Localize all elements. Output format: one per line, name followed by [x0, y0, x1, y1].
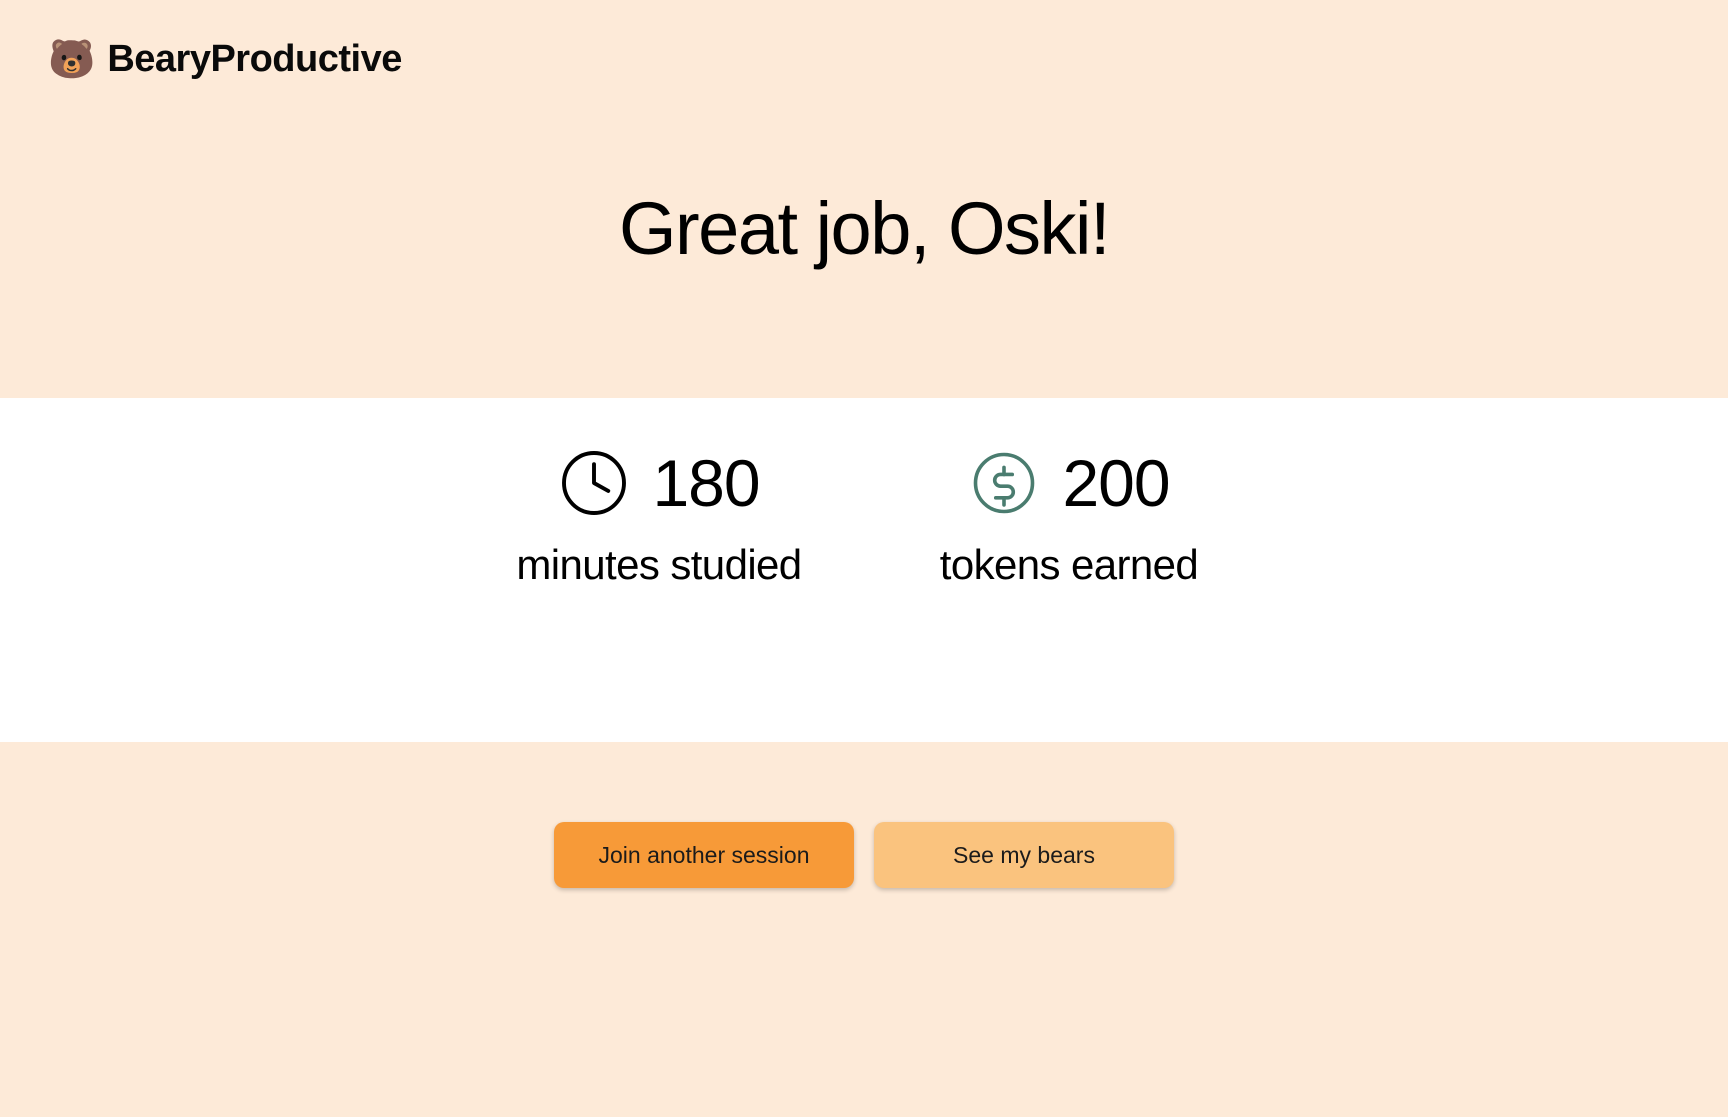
- stats-panel: 180 minutes studied 200 tokens earned: [0, 398, 1728, 742]
- bear-emoji-icon: 🐻: [48, 41, 95, 79]
- brand-logo-lockup[interactable]: 🐻 BearyProductive: [48, 40, 402, 78]
- hero-section: 🐻 BearyProductive Great job, Oski!: [0, 0, 1728, 398]
- stat-tokens-top-row: 200: [968, 440, 1169, 526]
- dollar-circle-icon: [968, 447, 1040, 519]
- brand-name: BearyProductive: [107, 40, 402, 78]
- session-summary-page: 🐻 BearyProductive Great job, Oski! 180 m…: [0, 0, 1728, 1117]
- join-another-session-button[interactable]: Join another session: [554, 822, 854, 888]
- actions-section: Join another session See my bears: [0, 742, 1728, 1117]
- page-title: Great job, Oski!: [0, 190, 1728, 268]
- stat-tokens-earned: 200 tokens earned: [864, 440, 1274, 588]
- stat-minutes-label: minutes studied: [516, 542, 801, 588]
- stat-tokens-label: tokens earned: [940, 542, 1198, 588]
- clock-icon: [558, 447, 630, 519]
- stat-tokens-value: 200: [1062, 450, 1169, 516]
- stat-minutes-studied: 180 minutes studied: [454, 440, 864, 588]
- stat-minutes-top-row: 180: [558, 440, 759, 526]
- stat-minutes-value: 180: [652, 450, 759, 516]
- see-my-bears-button[interactable]: See my bears: [874, 822, 1174, 888]
